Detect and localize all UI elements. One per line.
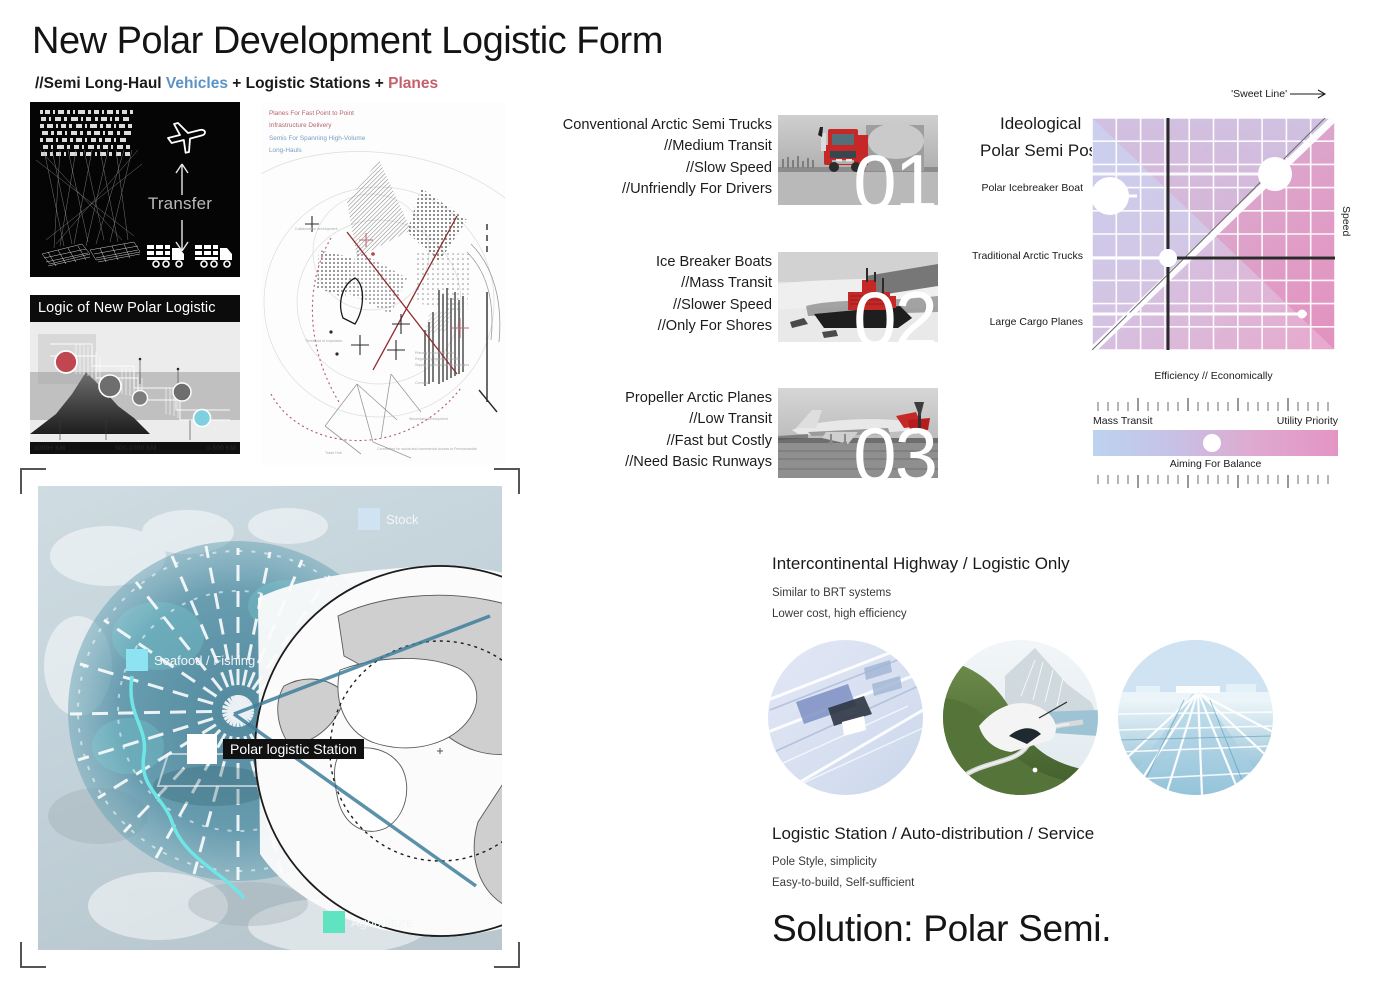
logic-panel-heading: Logic of New Polar Logistic [30,295,240,322]
snow-aerial-render [768,640,923,795]
logic-axis-label: 500-1000 KM [115,445,156,452]
transfer-label: Transfer [128,194,232,214]
slider-center-label: Aiming For Balance [1093,458,1338,470]
map-tag-label: Seafood / Fishing [154,653,255,668]
site-legend-item: Semis For Spanning High-Volume [269,133,365,145]
map-tag-label: Agriculture [351,915,413,930]
svg-text:Secondary development: Secondary development [409,417,448,421]
svg-text:Collaborative development: Collaborative development [295,227,338,231]
map-marker-square [187,734,217,764]
site-legend-item: Planes For Fast Point to Point [269,108,365,120]
chart-point-icebreaker [1092,177,1129,215]
plane-icon [162,116,208,156]
svg-text:Trade Hub: Trade Hub [325,451,342,455]
map-tag-label: Polar logistic Station [223,739,364,759]
ice-highway-render [1118,640,1273,795]
page-subtitle: //Semi Long-Haul Vehicles + Logistic Sta… [35,75,438,93]
option-03-number: 03 [853,416,936,478]
arrow-up-icon [174,162,190,196]
map-marker-square [323,911,345,933]
subtitle-vehicles: Vehicles [166,75,228,92]
option-02-line: //Only For Shores [452,316,772,337]
solution-statement: Solution: Polar Semi. [772,908,1111,950]
chart-y-axis-label: Speed [1340,206,1352,236]
option-01-line: //Unfriendly For Drivers [452,179,772,200]
chart-plot-area [1092,118,1335,350]
poster-board: New Polar Development Logistic Form //Se… [0,0,1400,990]
svg-text:Threshold of expansion: Threshold of expansion [305,339,342,343]
slider-right-label: Utility Priority [1277,415,1338,427]
slider-handle[interactable] [1203,434,1221,452]
option-03-line: //Low Transit [452,409,772,430]
chart-title: Ideological [1000,114,1081,134]
option-03-line: Propeller Arctic Planes [452,388,772,409]
map-marker-square [126,649,148,671]
svg-text:Regulatory flagship in North: Regulatory flagship in North [415,357,459,361]
station-section-subtext: Pole Style, simplicity Easy-to-build, Se… [772,852,914,895]
svg-text:Supply Continuity air technolo: Supply Continuity air technologies [415,363,469,367]
option-01-line: //Slow Speed [452,158,772,179]
subtitle-mid: + Logistic Stations + [228,75,388,92]
logic-axis-label: 1000+ KM [34,445,65,452]
station-section-heading: Logistic Station / Auto-distribution / S… [772,824,1094,844]
map-tag-polar-station[interactable]: Polar logistic Station [187,734,364,764]
map-tag-agriculture[interactable]: Agriculture [323,911,413,933]
option-01-text: Conventional Arctic Semi Trucks //Medium… [452,115,772,201]
render-circle-row [768,640,1273,795]
option-item-01: Conventional Arctic Semi Trucks //Medium… [556,115,938,207]
chart-point-polar-semi [1258,157,1292,191]
ice-highway-graphic [1118,640,1273,795]
option-03-line: //Fast but Costly [452,431,772,452]
slider-ticks-bottom [1093,475,1338,488]
polar-map-panel: Stock Seafood / Fishing Polar logistic S… [20,468,520,968]
truck-icon [146,241,186,269]
map-tag-stock[interactable]: Stock [358,508,419,530]
arrow-right-icon [1290,89,1328,99]
site-legend-item: Infrastructure Delivery [269,120,365,132]
sweet-line-label: 'Sweet Line' [1231,88,1287,100]
green-hills-road-render [943,640,1098,795]
option-01-line: //Medium Transit [452,136,772,157]
option-01-number: 01 [853,143,936,205]
slider-ticks-top [1093,398,1338,411]
chart-point-traditional-trucks [1159,249,1177,267]
truck-icon [194,241,234,269]
sweet-line-annotation: 'Sweet Line' [1231,88,1328,100]
logic-distance-axis: 1000+ KM 500-1000 KM 0-500 KM [30,445,240,452]
site-legend-item: Long-Hauls [269,145,365,157]
balance-slider[interactable]: Mass Transit Utility Priority Aiming For… [1093,398,1338,488]
chart-point-label-cargo-planes: Large Cargo Planes [940,316,1083,328]
red-semi-truck-photo: 01 [778,115,938,205]
chart-point-label-icebreaker: Polar Icebreaker Boat [940,182,1083,194]
site-drawing-legend: Planes For Fast Point to Point Infrastru… [269,108,365,158]
chart-point-label-trucks: Traditional Arctic Trucks [940,250,1083,262]
svg-text:Corridor: Corridor [415,381,429,385]
polar-map-graphic [38,486,502,950]
page-title: New Polar Development Logistic Form [32,20,663,63]
propeller-plane-photo: 03 [778,388,938,478]
logic-panel: Logic of New Polar Logistic [30,295,240,465]
logic-panel-diagram: 1000+ KM 500-1000 KM 0-500 KM [30,322,240,454]
chart-point-cargo-planes [1298,310,1307,319]
station-sub-line: Pole Style, simplicity [772,852,914,873]
subtitle-planes: Planes [388,75,438,92]
map-tag-seafood[interactable]: Seafood / Fishing [126,649,255,671]
snow-aerial-graphic [768,640,923,795]
highway-section-heading: Intercontinental Highway / Logistic Only [772,554,1070,574]
red-icebreaker-boat-photo: 02 [778,252,938,342]
option-02-text: Ice Breaker Boats //Mass Transit //Slowe… [452,252,772,338]
chart-x-axis-label: Efficiency // Economically [1092,370,1335,382]
option-02-line: //Mass Transit [452,273,772,294]
svg-text:Primary production hubs: Primary production hubs [415,351,454,355]
green-hills-graphic [943,640,1098,795]
logic-diagram-graphic [30,322,240,454]
map-marker-square [358,508,380,530]
subtitle-prefix: //Semi Long-Haul [35,75,166,92]
ideological-position-chart: 'Sweet Line' Ideological Polar Semi Posi… [940,86,1380,406]
logic-axis-label: 0-500 KM [206,445,236,452]
highway-sub-line: Similar to BRT systems [772,583,907,604]
slider-left-label: Mass Transit [1093,415,1153,427]
truck-icon-row [146,241,234,269]
option-03-text: Propeller Arctic Planes //Low Transit //… [452,388,772,474]
station-sub-line: Easy-to-build, Self-sufficient [772,873,914,894]
highway-sub-line: Lower cost, high efficiency [772,604,907,625]
polar-map-image: Stock Seafood / Fishing Polar logistic S… [38,486,502,950]
option-02-line: Ice Breaker Boats [452,252,772,273]
map-tag-label: Stock [386,512,419,527]
option-item-02: Ice Breaker Boats //Mass Transit //Slowe… [556,252,938,344]
option-02-line: //Slower Speed [452,295,772,316]
network-transfer-panel: Transfer [30,102,240,277]
option-02-number: 02 [853,280,936,342]
option-01-line: Conventional Arctic Semi Trucks [452,115,772,136]
highway-section-subtext: Similar to BRT systems Lower cost, high … [772,583,907,626]
option-item-03: Propeller Arctic Planes //Low Transit //… [556,388,938,480]
